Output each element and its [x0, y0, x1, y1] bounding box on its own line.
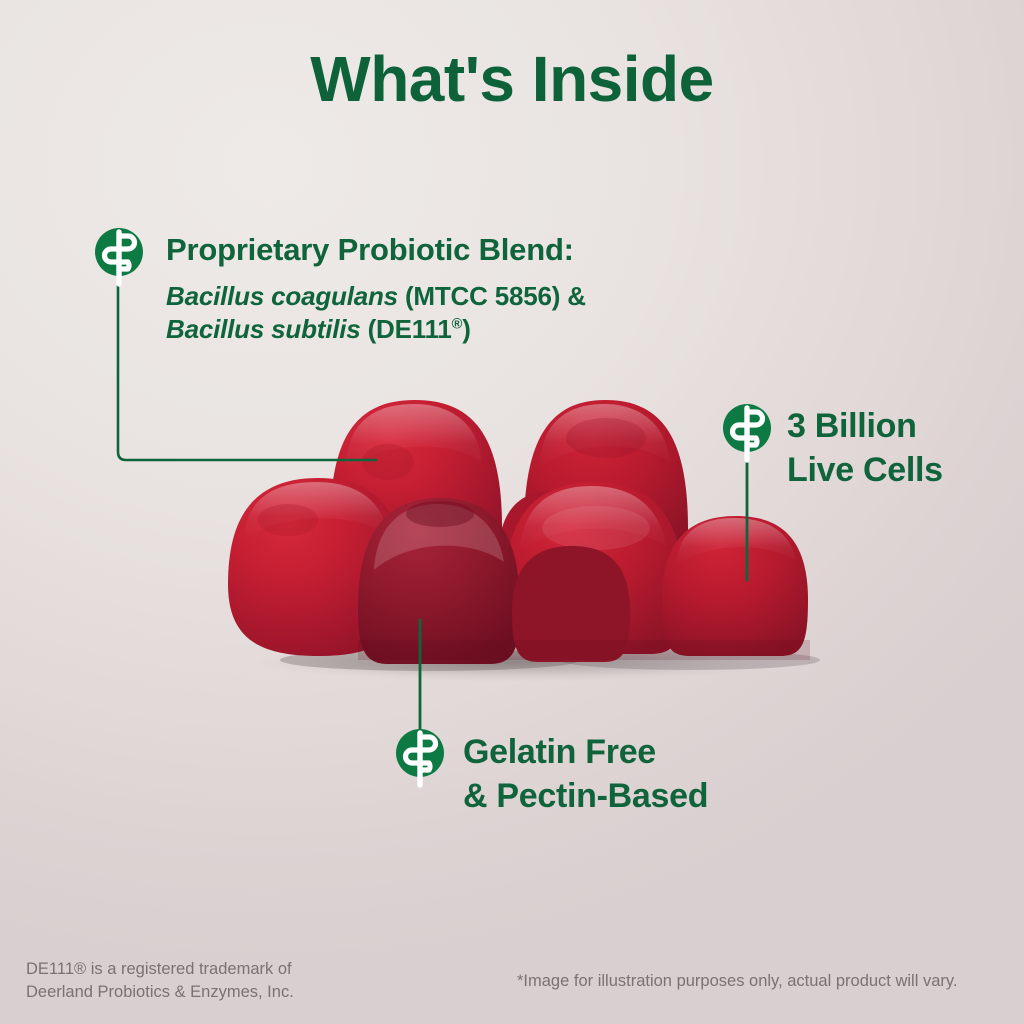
- gummy-cluster-image: [0, 0, 1024, 1024]
- strain-mtcc: (MTCC 5856) &: [398, 281, 586, 311]
- trademark-note-line-1: DE111® is a registered trademark of: [26, 958, 294, 981]
- live-cells-line-2: Live Cells: [787, 448, 943, 493]
- gut-icon: [95, 228, 143, 276]
- connector-line-gelatin-free: [417, 620, 423, 740]
- strain-de111-close: ): [462, 314, 470, 344]
- product-infographic: What's Inside: [0, 0, 1024, 1024]
- gut-icon: [396, 729, 444, 777]
- gelatin-free-line-1: Gelatin Free: [463, 730, 656, 775]
- callout-blend-headline: Proprietary Probiotic Blend:: [166, 232, 574, 268]
- image-disclaimer: *Image for illustration purposes only, a…: [517, 970, 958, 993]
- species-coagulans: Bacillus coagulans: [166, 281, 398, 311]
- callout-blend-line2: Bacillus coagulans (MTCC 5856) &: [166, 280, 586, 313]
- gelatin-free-line-2: & Pectin-Based: [463, 774, 708, 819]
- trademark-note-line-2: Deerland Probiotics & Enzymes, Inc.: [26, 981, 294, 1004]
- species-subtilis: Bacillus subtilis: [166, 314, 361, 344]
- connector-line-live-cells: [744, 445, 750, 585]
- registered-mark-icon: ®: [452, 316, 463, 332]
- callout-blend-line3: Bacillus subtilis (DE111®): [166, 313, 471, 346]
- strain-de111: (DE111: [361, 314, 452, 344]
- trademark-note: DE111® is a registered trademark of Deer…: [26, 958, 294, 1005]
- live-cells-line-1: 3 Billion: [787, 404, 917, 449]
- page-title: What's Inside: [0, 46, 1024, 113]
- gut-icon: [723, 404, 771, 452]
